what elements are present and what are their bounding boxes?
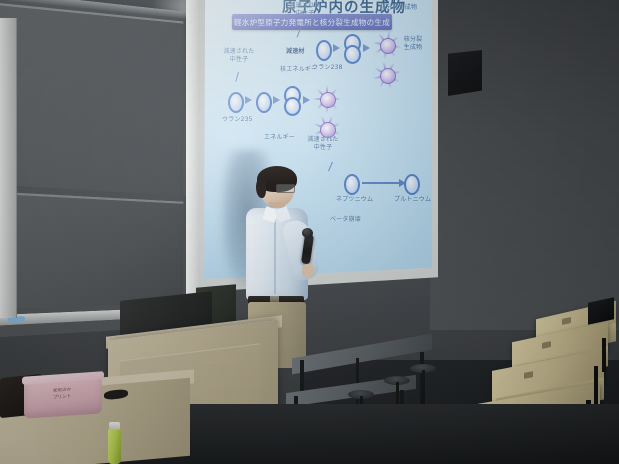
green-bottle xyxy=(108,428,121,464)
fission-burst-3 xyxy=(374,32,400,58)
label-fission-products-top: 核分裂 生成物 xyxy=(398,36,428,51)
label-moderator: 減速材 xyxy=(286,48,305,56)
nucleus-elongated-1 xyxy=(284,86,297,112)
nucleus-u235-left xyxy=(228,92,244,113)
fission-burst-4 xyxy=(374,62,400,88)
presenter-glasses xyxy=(276,184,295,193)
label-slowed-neutron-top: 減速された 中性子 xyxy=(282,2,328,17)
arrow-4 xyxy=(333,44,340,52)
label-plutonium: プルトニウム xyxy=(394,196,431,204)
blackboard-surface-lower xyxy=(0,191,183,309)
label-corner-note: 核分裂生成物 xyxy=(380,4,417,12)
right-wall xyxy=(430,0,619,330)
label-uranium238-top: ウラン238 xyxy=(312,64,343,72)
nucleus-plutonium xyxy=(404,174,420,195)
arrow-2 xyxy=(273,96,280,104)
leader-line-1 xyxy=(235,72,239,82)
label-slowed-neutron-mid: 減速された 中性子 xyxy=(300,136,346,151)
arrow-np-to-pu xyxy=(362,182,400,184)
arrow-1 xyxy=(245,96,252,104)
leader-line-2 xyxy=(297,28,301,38)
bottle-cap xyxy=(109,422,120,430)
nucleus-compound-1 xyxy=(256,92,272,113)
wall-side-panel xyxy=(0,18,17,318)
shirt-placket xyxy=(274,216,276,294)
arrow-3 xyxy=(303,96,310,104)
nucleus-u238-top xyxy=(316,40,332,61)
label-slowed-neutron-left: 減速された 中性子 xyxy=(216,48,262,63)
presenter-hair-side xyxy=(256,178,266,198)
wall-speaker-icon xyxy=(448,50,482,96)
label-neptunium: ネプツニウム xyxy=(336,196,373,204)
label-uranium235-left: ウラン235 xyxy=(222,116,253,124)
leader-line-3 xyxy=(328,162,333,172)
nucleus-elongated-2 xyxy=(344,34,357,60)
presenter-hand xyxy=(302,264,314,277)
fission-burst-1 xyxy=(314,86,340,112)
arrow-5 xyxy=(363,44,370,52)
label-energy: エネルギー xyxy=(264,134,295,142)
nucleus-neptunium xyxy=(344,174,360,195)
lecture-hall-photo: 原子炉内の生成物 軽水炉型原子力発電所と核分裂生成物の生成 減速された 中性子 xyxy=(0,0,619,464)
slide-subtitle: 軽水炉型原子力発電所と核分裂生成物の生成 xyxy=(234,17,390,28)
label-beta-decay: ベータ崩壊 xyxy=(330,216,361,224)
desk-leg-1 xyxy=(602,338,606,372)
desk-leg-2 xyxy=(594,366,598,404)
